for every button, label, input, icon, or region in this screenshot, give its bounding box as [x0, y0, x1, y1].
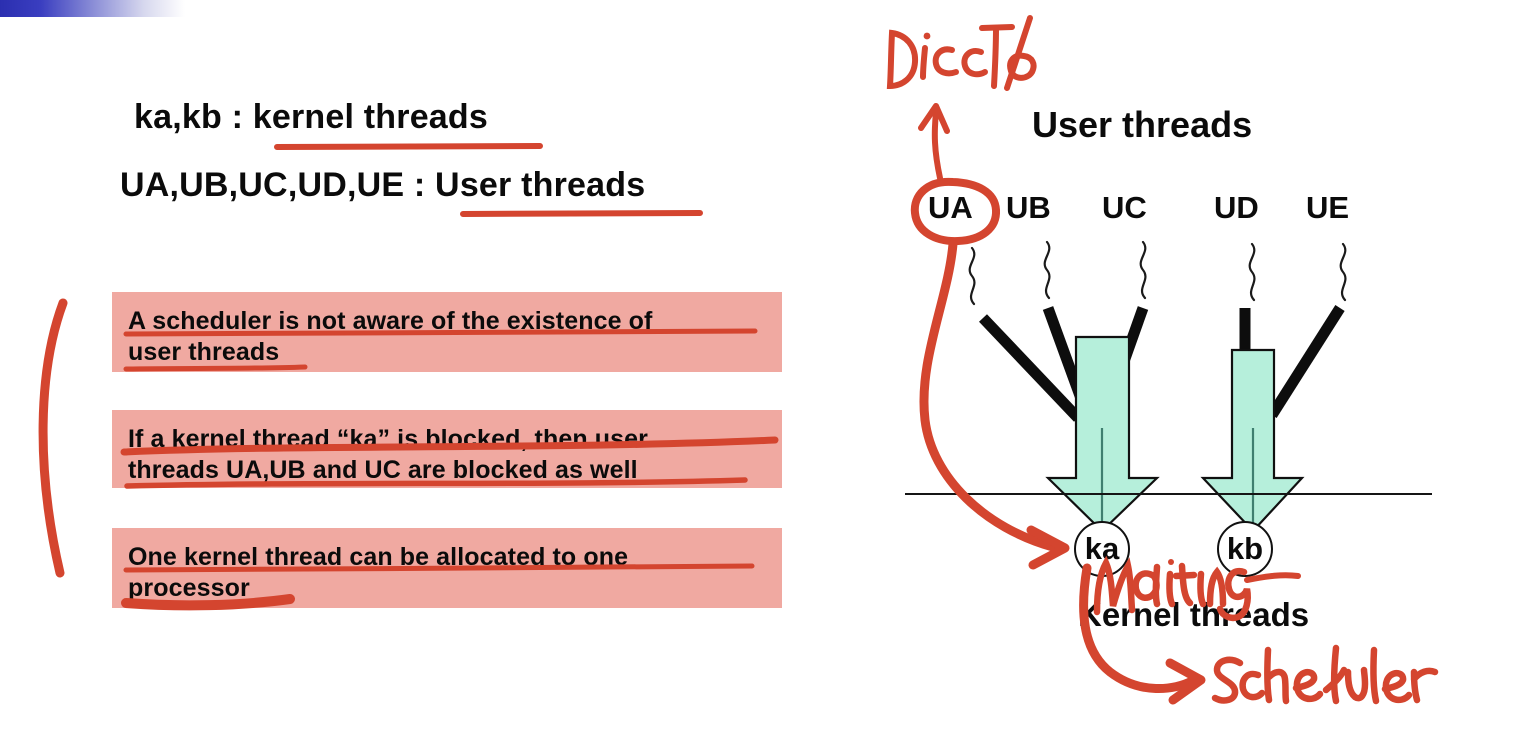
hand-drawn-brace	[43, 303, 63, 573]
handwriting-waiting	[1097, 559, 1298, 618]
strikethrough-processor	[126, 599, 290, 605]
underline-box1-line2	[126, 367, 305, 369]
underline-box3-line1	[126, 566, 752, 570]
underline-box2-line1	[124, 440, 775, 452]
circle-annotation-ua	[915, 182, 996, 241]
handwriting-scheduler	[1215, 648, 1435, 701]
handwriting-disc-io	[890, 18, 1034, 88]
underline-user-threads	[463, 213, 700, 214]
slide-canvas: ka,kb : kernel threads UA,UB,UC,UD,UE : …	[0, 0, 1535, 733]
underline-box2-line2	[127, 480, 745, 486]
handwritten-ink-layer	[0, 0, 1535, 733]
underline-box1-line1	[126, 331, 755, 334]
arrow-ua-to-ka	[924, 244, 1053, 547]
underline-kernel-threads	[277, 146, 540, 147]
arrow-shaft-disc-io	[935, 112, 940, 178]
